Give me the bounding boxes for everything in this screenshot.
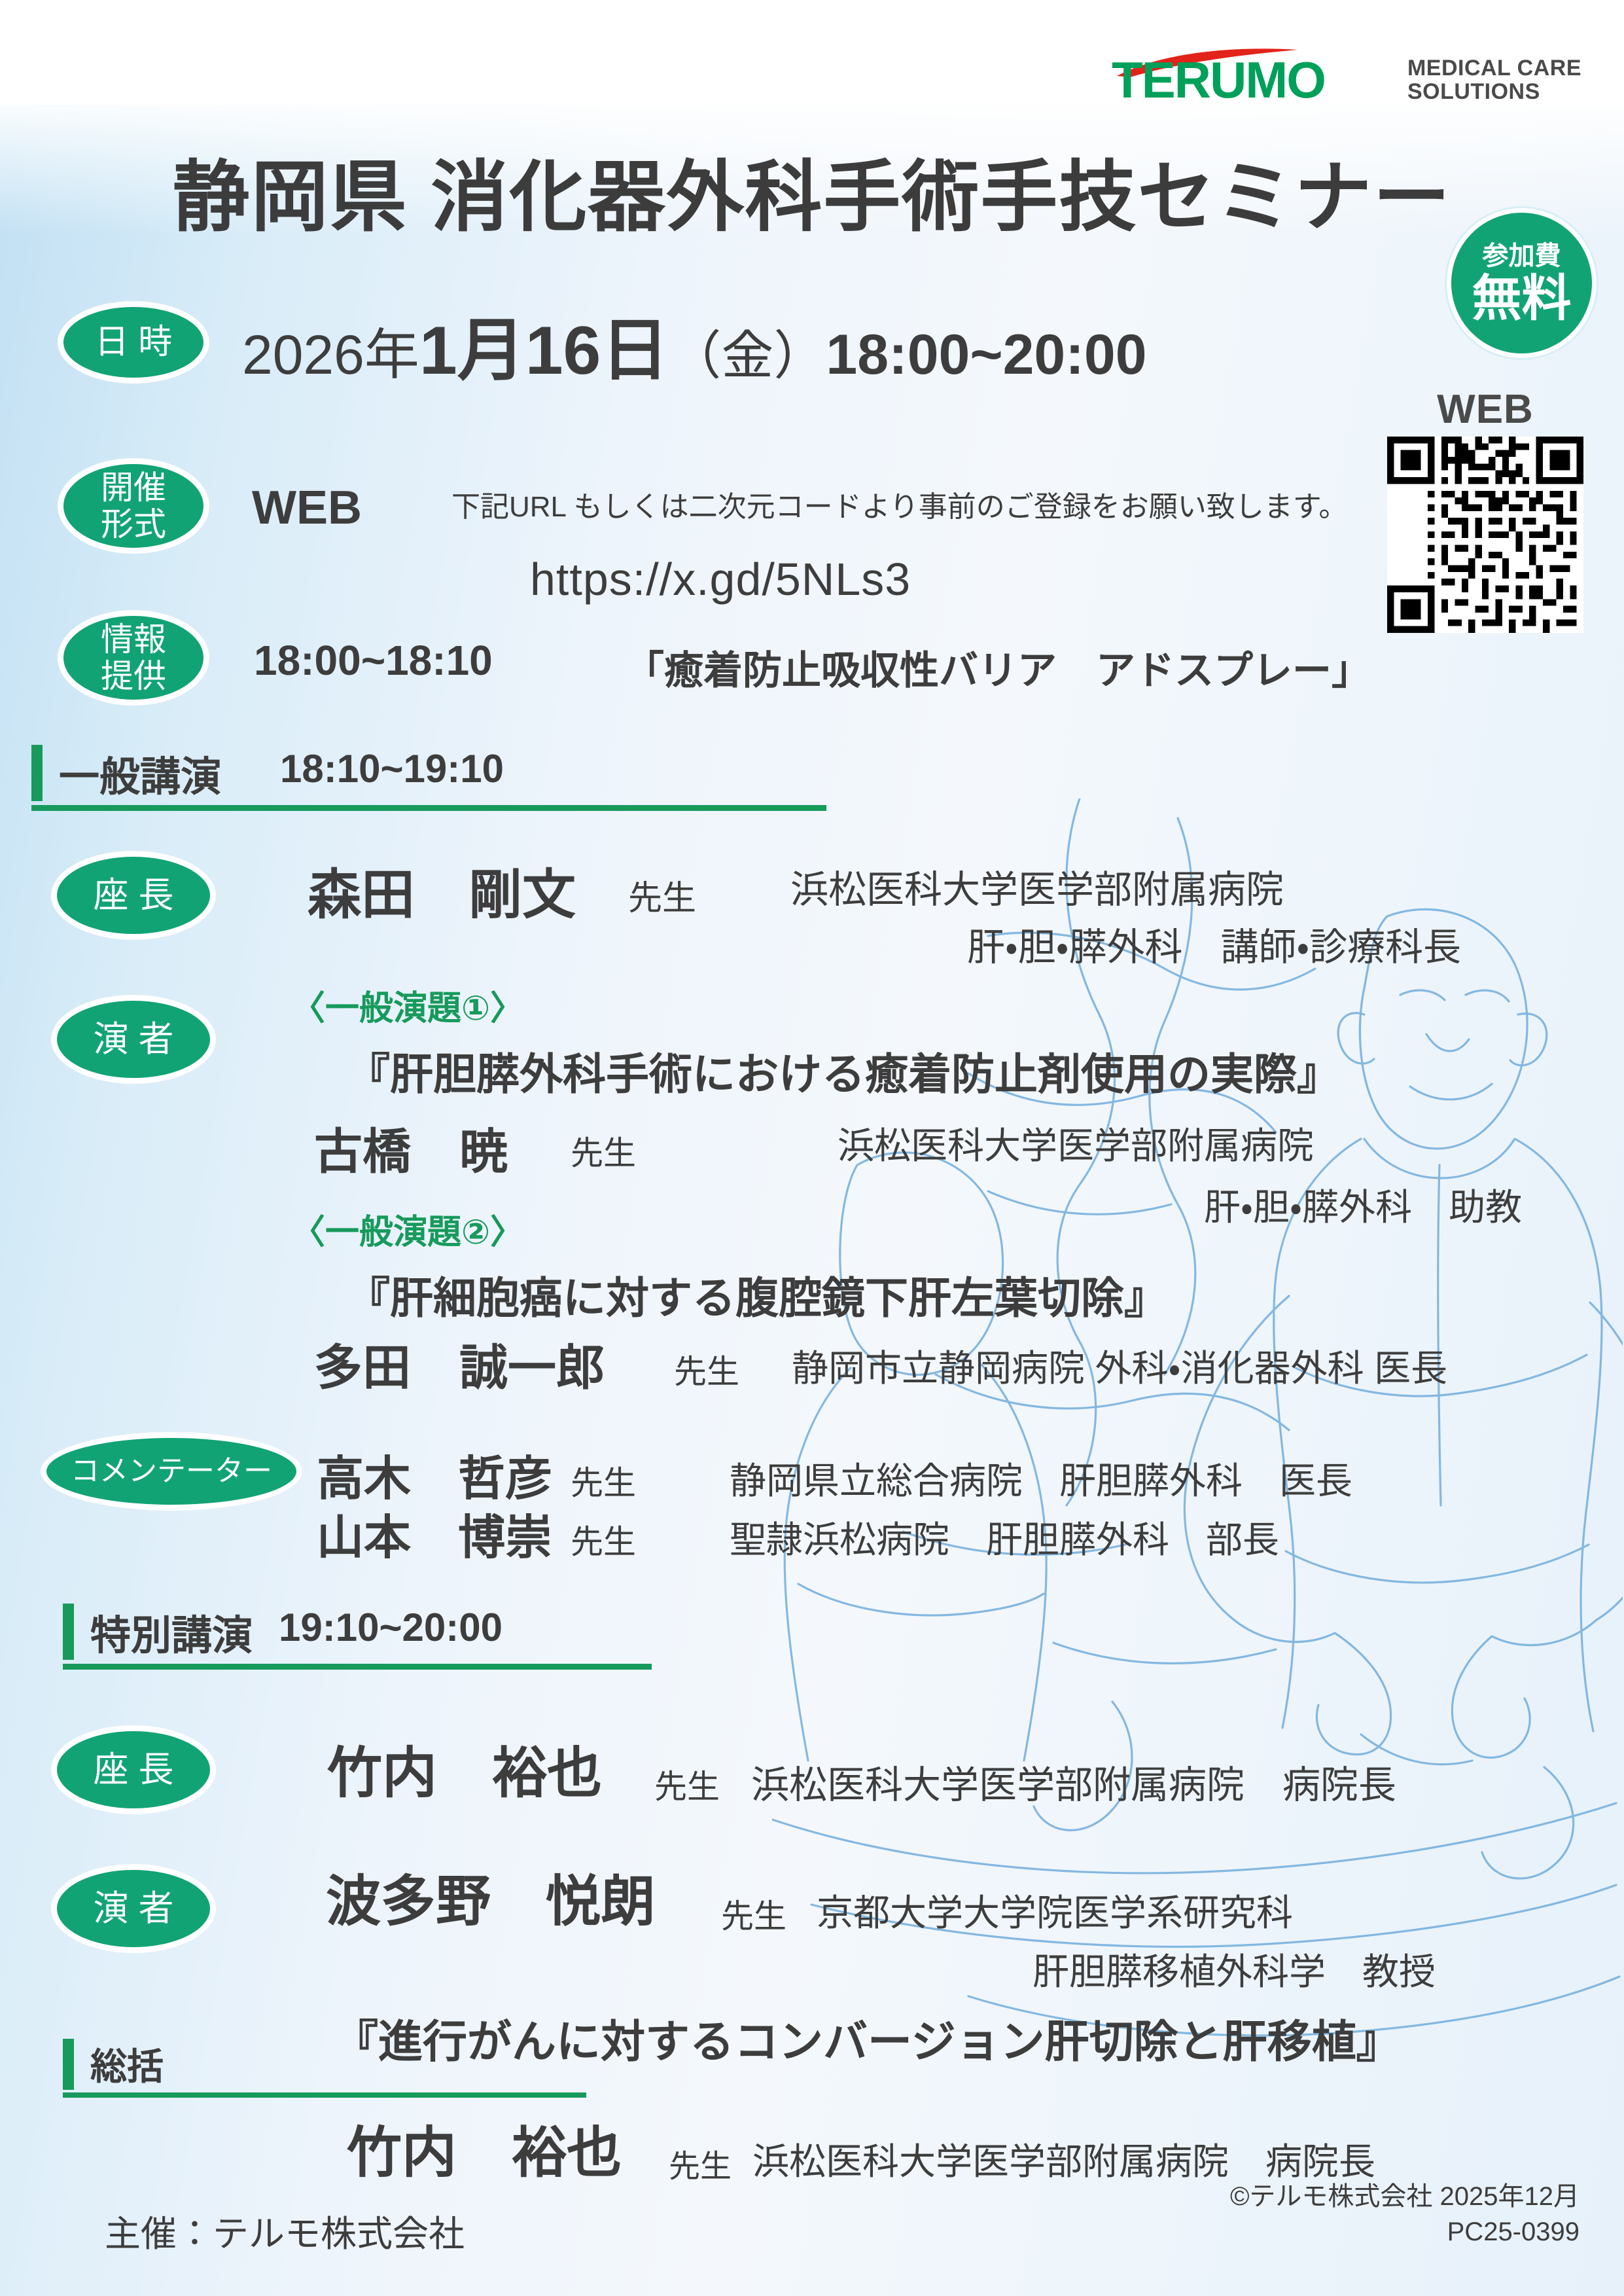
special-chair-affiliation: 浜松医科大学医学部附属病院 病院長 — [751, 1754, 1396, 1809]
format-value: WEB — [252, 481, 362, 535]
general-chair-badge: 座 長 — [51, 851, 216, 940]
commentator-2-name: 山本 博崇 — [317, 1499, 552, 1568]
general-session-underline — [31, 805, 826, 811]
info-badge-line2: 提供 — [101, 658, 166, 694]
document-code: PC25-0399 — [1230, 2215, 1580, 2250]
general-session-bar — [31, 745, 43, 801]
general-chair-affiliation-line2: 肝・胆・膵外科 講師・診療科長 — [967, 916, 1461, 971]
qr-label: WEB — [1387, 386, 1583, 433]
special-session-heading: 特別講演 — [90, 1602, 253, 1661]
summary-session-bar — [63, 2039, 74, 2090]
special-speaker-affiliation-line1: 京都大学大学院医学系研究科 — [817, 1884, 1293, 1937]
format-badge-line1: 開催 — [101, 469, 166, 506]
special-chair-name: 竹内 裕也 — [327, 1729, 602, 1808]
general-speakers-badge-label: 演 者 — [93, 1020, 173, 1059]
registration-note: 下記URL もしくは二次元コードより事前のご登録をお願い致します。 — [451, 483, 1347, 525]
special-speaker-name: 波多野 悦朗 — [326, 1857, 656, 1937]
datetime-time: 18:00~20:00 — [826, 323, 1146, 386]
datetime-year: 2026年 — [242, 324, 419, 386]
seminar-flyer: TERUMO MEDICAL CARE SOLUTIONS 静岡県 消化器外科手… — [0, 0, 1624, 2296]
organizer: 主催：テルモ株式会社 — [105, 2204, 465, 2257]
special-speaker-affiliation-line2: 肝胆膵移植外科学 教授 — [1033, 1943, 1436, 1996]
format-badge-line2: 形式 — [101, 506, 166, 543]
terumo-logo-mark: TERUMO — [1112, 51, 1393, 107]
summary-honorific: 先生 — [669, 2140, 732, 2186]
special-chair-badge-label: 座 長 — [93, 1750, 173, 1789]
general-chair-name: 森田 剛文 — [308, 851, 576, 929]
datetime-month: 1月 — [419, 313, 525, 389]
general-session-time: 18:10~19:10 — [280, 746, 504, 791]
registration-url: https://x.gd/5NLs3 — [530, 553, 911, 605]
talk-1-affiliation-line2: 肝・胆・膵外科 助教 — [1204, 1178, 1522, 1231]
summary-name: 竹内 裕也 — [347, 2109, 622, 2188]
special-speaker-talk-title: 『進行がんに対するコンバージョン肝切除と肝移植』 — [334, 2005, 1401, 2070]
talk-1-affiliation-line1: 浜松医科大学医学部附属病院 — [838, 1117, 1314, 1170]
general-session-heading: 一般講演 — [59, 744, 221, 802]
free-badge-label: 参加費 — [1483, 243, 1561, 269]
general-speakers-badge: 演 者 — [51, 995, 216, 1084]
commentator-1-honorific: 先生 — [571, 1457, 636, 1504]
datetime-badge: 日 時 — [58, 301, 209, 384]
talk-1-title: 『肝胆膵外科手術における癒着防止剤使用の実際』 — [347, 1039, 1340, 1102]
commentator-2-affiliation: 聖隷浜松病院 肝胆膵外科 部長 — [730, 1511, 1279, 1564]
terumo-tagline-line1: MEDICAL CARE — [1407, 56, 1581, 80]
special-session-bar — [63, 1604, 74, 1660]
datetime-weekday: （金） — [669, 327, 826, 385]
talk-1-label: 〈一般演題①〉 — [291, 980, 524, 1030]
info-time: 18:00~18:10 — [254, 636, 493, 685]
special-session-underline — [63, 1664, 652, 1670]
format-badge: 開催 形式 — [58, 458, 209, 554]
special-session-time: 19:10~20:00 — [279, 1605, 503, 1650]
free-participation-badge: 参加費 無料 — [1447, 208, 1597, 358]
talk-1-speaker-name: 古橋 暁 — [314, 1113, 508, 1183]
info-badge-line1: 情報 — [101, 621, 166, 658]
commentator-badge-label: コメンテーター — [71, 1455, 272, 1487]
terumo-wordmark: TERUMO — [1112, 50, 1325, 110]
qr-code-icon[interactable] — [1387, 437, 1583, 633]
footer-right: ©テルモ株式会社 2025年12月 PC25-0399 — [1230, 2179, 1580, 2250]
talk-2-affiliation: 静岡市立静岡病院 外科・消化器外科 医長 — [792, 1339, 1447, 1392]
terumo-tagline: MEDICAL CARE SOLUTIONS — [1407, 56, 1581, 107]
talk-2-label: 〈一般演題②〉 — [291, 1204, 524, 1253]
special-speaker-honorific: 先生 — [721, 1890, 786, 1937]
commentator-2-honorific: 先生 — [571, 1516, 636, 1563]
datetime-value: 2026年1月16日（金）18:00~20:00 — [242, 295, 1147, 393]
general-chair-badge-label: 座 長 — [93, 876, 173, 915]
commentator-1-affiliation: 静岡県立総合病院 肝胆膵外科 医長 — [730, 1452, 1352, 1505]
summary-session-underline — [63, 2092, 586, 2098]
summary-session-heading: 総括 — [90, 2037, 164, 2090]
info-title: 「癒着防止吸収性バリア アドスプレー」 — [625, 639, 1371, 696]
summary-affiliation: 浜松医科大学医学部附属病院 病院長 — [752, 2132, 1375, 2185]
general-chair-affiliation-line1: 浜松医科大学医学部附属病院 — [790, 859, 1284, 914]
talk-2-speaker-name: 多田 誠一郎 — [314, 1329, 605, 1399]
talk-2-speaker-honorific: 先生 — [674, 1346, 739, 1393]
datetime-day: 16日 — [525, 313, 669, 389]
info-badge: 情報 提供 — [58, 610, 209, 706]
special-chair-honorific: 先生 — [654, 1761, 720, 1808]
special-speaker-badge-label: 演 者 — [93, 1889, 173, 1928]
commentator-badge: コメンテーター — [41, 1432, 302, 1511]
page-title: 静岡県 消化器外科手術手技セミナー — [0, 134, 1624, 246]
special-speaker-badge: 演 者 — [51, 1864, 216, 1953]
free-badge-value: 無料 — [1472, 274, 1572, 324]
datetime-badge-label: 日 時 — [95, 323, 172, 361]
talk-1-speaker-honorific: 先生 — [571, 1127, 636, 1174]
terumo-logo: TERUMO MEDICAL CARE SOLUTIONS — [1112, 51, 1581, 107]
terumo-tagline-line2: SOLUTIONS — [1407, 80, 1581, 103]
talk-2-title: 『肝細胞癌に対する腹腔鏡下肝左葉切除』 — [347, 1263, 1167, 1326]
general-chair-honorific: 先生 — [628, 870, 696, 920]
special-chair-badge: 座 長 — [51, 1725, 216, 1814]
qr-block: WEB — [1387, 386, 1583, 636]
copyright: ©テルモ株式会社 2025年12月 — [1230, 2179, 1580, 2215]
